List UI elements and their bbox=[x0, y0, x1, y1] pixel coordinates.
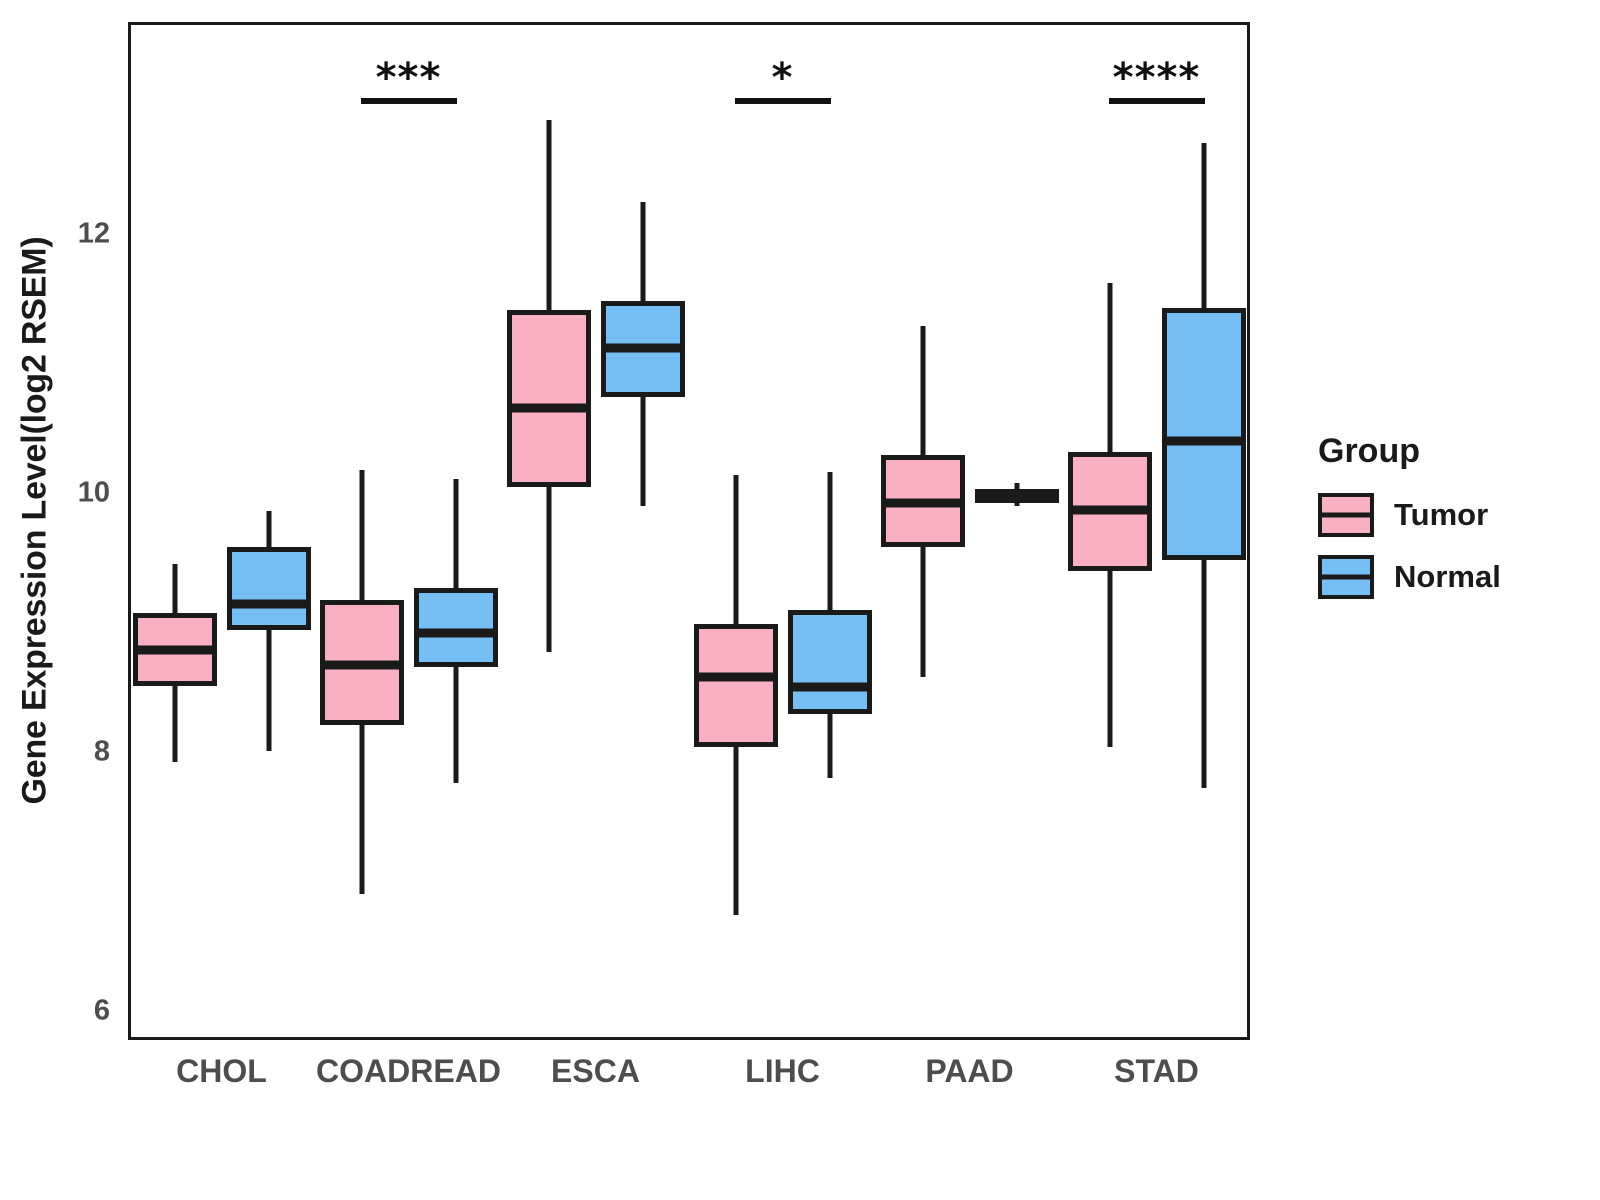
x-tick-label-lihc: LIHC bbox=[745, 1053, 820, 1090]
x-tick-label-stad: STAD bbox=[1114, 1053, 1199, 1090]
legend-title: Group bbox=[1318, 432, 1588, 471]
y-tick-label: 10 bbox=[50, 477, 110, 510]
chart-root: Gene Expression Level(log2 RSEM) 681012 … bbox=[0, 0, 1600, 1200]
plot-panel bbox=[128, 22, 1250, 1040]
legend-swatch-normal bbox=[1318, 555, 1374, 599]
y-axis-tick-labels: 681012 bbox=[40, 0, 110, 1200]
x-tick-label-paad: PAAD bbox=[925, 1053, 1013, 1090]
x-tick-label-coadread: COADREAD bbox=[316, 1053, 501, 1090]
legend-items: TumorNormal bbox=[1318, 493, 1588, 599]
legend: Group TumorNormal bbox=[1318, 432, 1588, 617]
x-tick-label-chol: CHOL bbox=[176, 1053, 267, 1090]
legend-label: Normal bbox=[1394, 559, 1501, 595]
x-tick-label-esca: ESCA bbox=[551, 1053, 640, 1090]
y-tick-label: 12 bbox=[50, 218, 110, 251]
legend-item-tumor[interactable]: Tumor bbox=[1318, 493, 1588, 537]
legend-label: Tumor bbox=[1394, 497, 1488, 533]
legend-swatch-tumor bbox=[1318, 493, 1374, 537]
y-tick-label: 8 bbox=[50, 736, 110, 769]
legend-item-normal[interactable]: Normal bbox=[1318, 555, 1588, 599]
y-tick-label: 6 bbox=[50, 995, 110, 1028]
